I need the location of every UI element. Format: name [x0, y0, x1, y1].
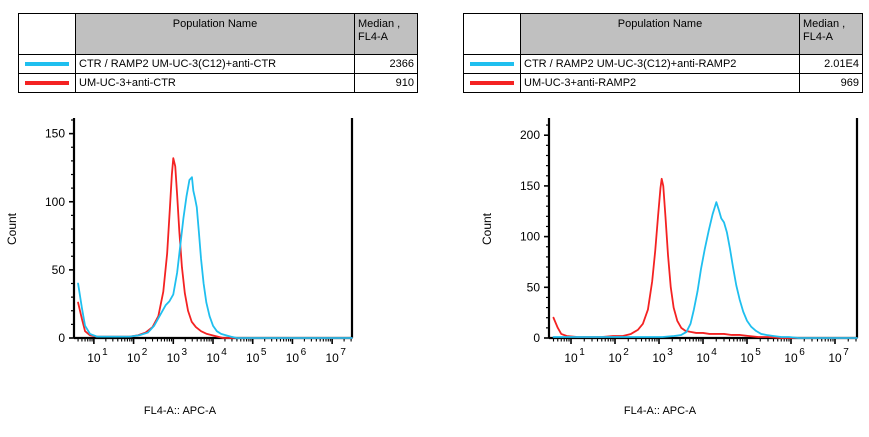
legend-header-row: Population Name Median , FL4-A	[19, 14, 418, 55]
svg-text:100: 100	[520, 230, 540, 244]
svg-text:10: 10	[696, 351, 710, 365]
legend-swatch-cell	[464, 74, 521, 93]
x-axis-label-right: FL4-A:: APC-A	[465, 405, 855, 417]
svg-text:10: 10	[564, 351, 578, 365]
svg-text:10: 10	[784, 351, 798, 365]
legend-median-value: 969	[800, 74, 863, 93]
legend-population-name: CTR / RAMP2 UM-UC-3(C12)+anti-RAMP2	[521, 55, 800, 74]
svg-text:10: 10	[206, 351, 220, 365]
svg-text:7: 7	[843, 347, 849, 358]
legend-header-median-line1: Median ,	[358, 18, 400, 30]
svg-text:3: 3	[182, 347, 188, 358]
svg-text:10: 10	[652, 351, 666, 365]
svg-text:2: 2	[623, 347, 629, 358]
legend-row: CTR / RAMP2 UM-UC-3(C12)+anti-RAMP2 2.01…	[464, 55, 863, 74]
legend-header-row: Population Name Median , FL4-A	[464, 14, 863, 55]
svg-text:4: 4	[711, 347, 717, 358]
legend-swatch-cell	[19, 74, 76, 93]
svg-text:7: 7	[340, 347, 346, 358]
svg-text:10: 10	[286, 351, 300, 365]
legend-population-name: UM-UC-3+anti-RAMP2	[521, 74, 800, 93]
legend-header-median-line2: FL4-A	[803, 31, 859, 44]
svg-text:1: 1	[102, 347, 108, 358]
svg-text:10: 10	[325, 351, 339, 365]
legend-row: UM-UC-3+anti-CTR 910	[19, 74, 418, 93]
legend-header-median-line1: Median ,	[803, 18, 845, 30]
svg-text:10: 10	[828, 351, 842, 365]
legend-swatch-cell	[464, 55, 521, 74]
svg-text:10: 10	[87, 351, 101, 365]
legend-table-left: Population Name Median , FL4-A CTR / RAM…	[18, 13, 418, 93]
svg-text:150: 150	[45, 127, 65, 141]
svg-text:Count: Count	[5, 212, 19, 245]
series-color-swatch-red	[25, 81, 69, 85]
svg-text:6: 6	[799, 347, 805, 358]
svg-text:Count: Count	[480, 212, 494, 245]
svg-text:10: 10	[246, 351, 260, 365]
svg-text:6: 6	[301, 347, 307, 358]
legend-header-median: Median , FL4-A	[355, 14, 418, 55]
svg-text:3: 3	[667, 347, 673, 358]
flow-cytometry-figure: Population Name Median , FL4-A CTR / RAM…	[0, 0, 869, 437]
legend-header-population-name: Population Name	[521, 14, 800, 55]
legend-table-right: Population Name Median , FL4-A CTR / RAM…	[463, 13, 863, 93]
legend-header-median: Median , FL4-A	[800, 14, 863, 55]
legend-median-value: 910	[355, 74, 418, 93]
svg-text:150: 150	[520, 179, 540, 193]
legend-row: UM-UC-3+anti-RAMP2 969	[464, 74, 863, 93]
svg-text:5: 5	[755, 347, 761, 358]
svg-text:10: 10	[608, 351, 622, 365]
panel-right: Population Name Median , FL4-A CTR / RAM…	[435, 0, 869, 437]
legend-swatch-cell	[19, 55, 76, 74]
svg-text:1: 1	[579, 347, 585, 358]
panel-left: Population Name Median , FL4-A CTR / RAM…	[0, 0, 434, 437]
svg-text:4: 4	[221, 347, 227, 358]
histogram-plot-right: 050100150200Count101102103104105106107	[475, 100, 865, 390]
svg-text:100: 100	[45, 195, 65, 209]
svg-text:10: 10	[167, 351, 181, 365]
svg-text:50: 50	[52, 263, 66, 277]
legend-population-name: CTR / RAMP2 UM-UC-3(C12)+anti-CTR	[76, 55, 355, 74]
x-axis-label-left: FL4-A:: APC-A	[0, 405, 360, 417]
svg-text:0: 0	[533, 331, 540, 345]
svg-text:10: 10	[740, 351, 754, 365]
svg-text:50: 50	[527, 280, 541, 294]
legend-header-population-name: Population Name	[76, 14, 355, 55]
legend-median-value: 2366	[355, 55, 418, 74]
svg-text:2: 2	[142, 347, 148, 358]
svg-text:0: 0	[58, 331, 65, 345]
svg-text:10: 10	[127, 351, 141, 365]
legend-header-swatch	[464, 14, 521, 55]
histogram-plot-left: 050100150Count101102103104105106107	[0, 100, 360, 390]
legend-header-swatch	[19, 14, 76, 55]
legend-row: CTR / RAMP2 UM-UC-3(C12)+anti-CTR 2366	[19, 55, 418, 74]
svg-text:5: 5	[261, 347, 267, 358]
histogram-svg-right: 050100150200Count101102103104105106107	[475, 100, 865, 390]
series-color-swatch-cyan	[25, 62, 69, 66]
series-color-swatch-red	[470, 81, 514, 85]
series-color-swatch-cyan	[470, 62, 514, 66]
svg-text:200: 200	[520, 128, 540, 142]
legend-median-value: 2.01E4	[800, 55, 863, 74]
legend-header-median-line2: FL4-A	[358, 31, 414, 44]
legend-population-name: UM-UC-3+anti-CTR	[76, 74, 355, 93]
histogram-svg-left: 050100150Count101102103104105106107	[0, 100, 360, 390]
